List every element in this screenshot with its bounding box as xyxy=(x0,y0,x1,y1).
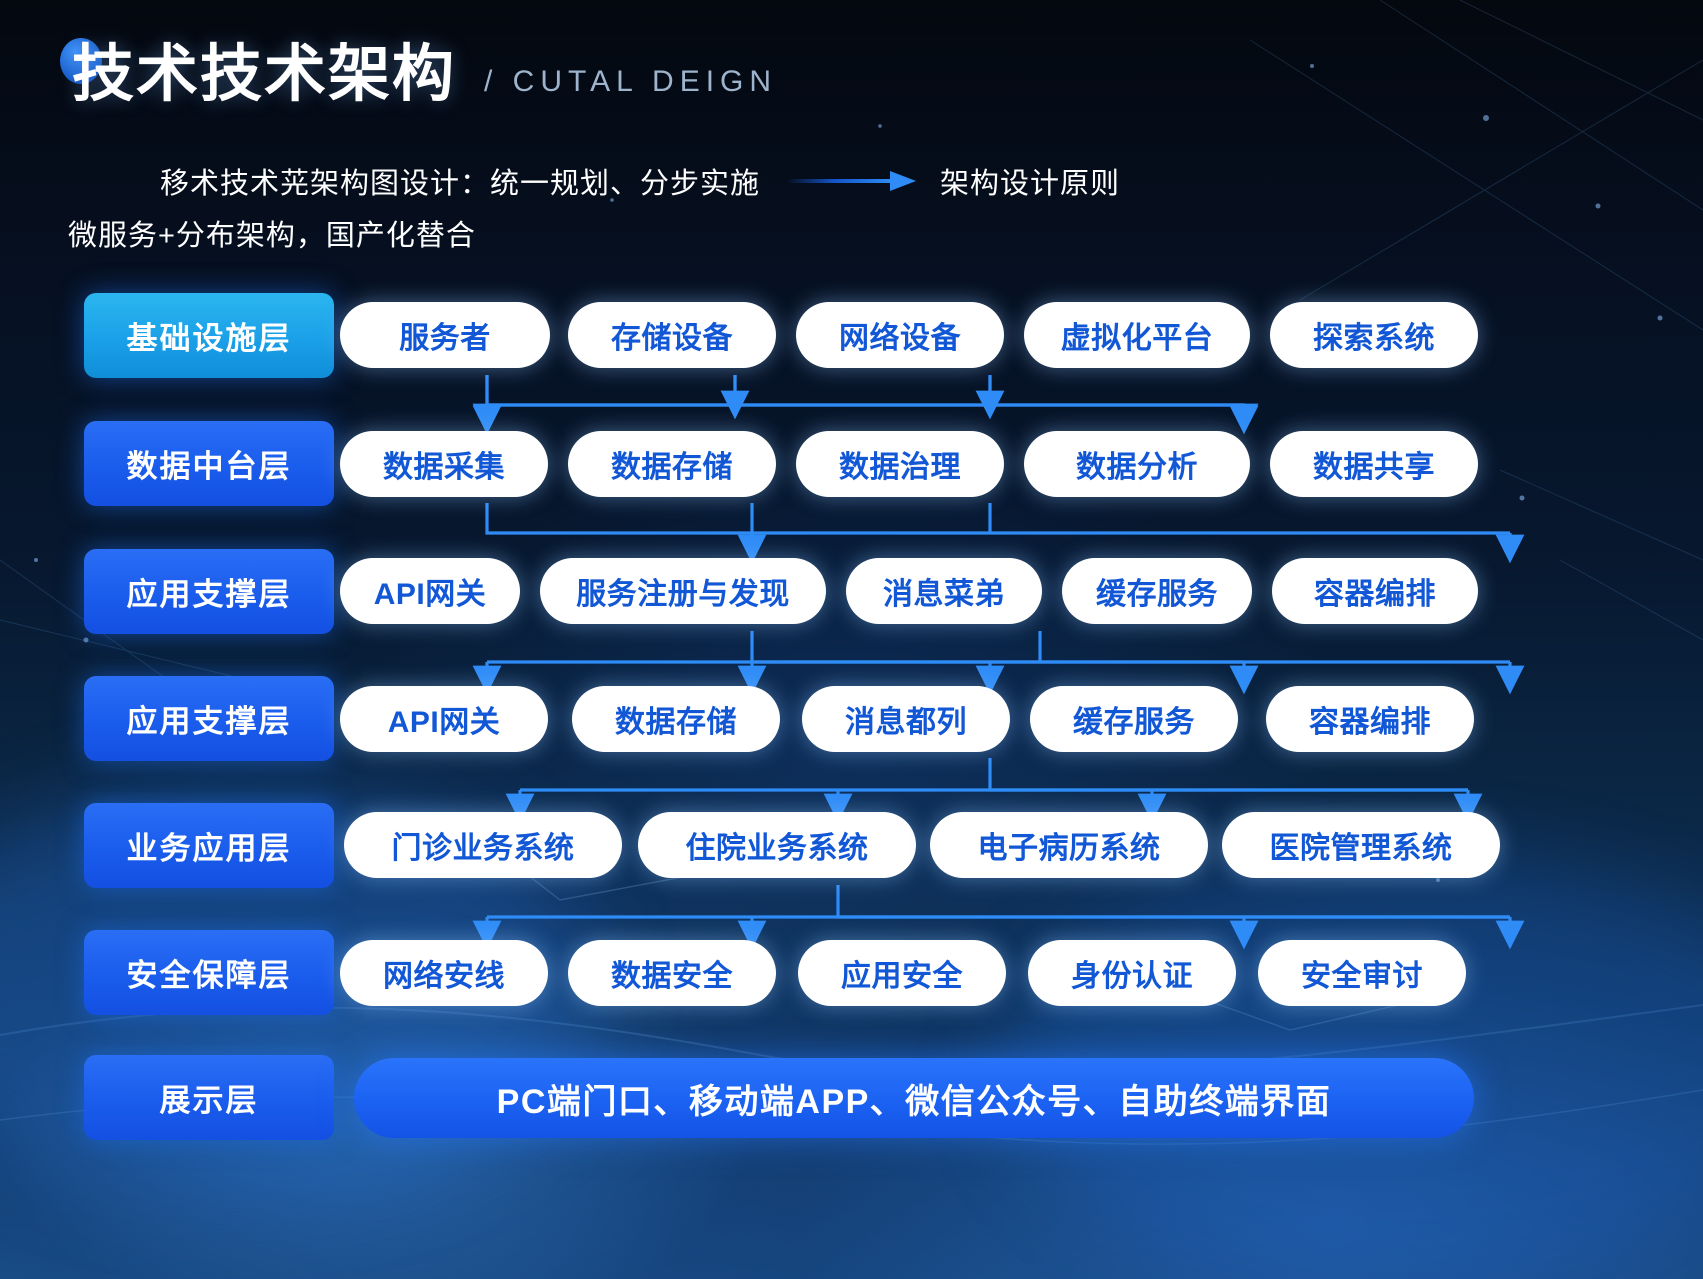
node-label: 服务者 xyxy=(399,313,491,357)
node-security-4[interactable]: 身份认证 xyxy=(1028,940,1236,1006)
node-security-1[interactable]: 网络安线 xyxy=(340,940,548,1006)
node-label: 消息菜弟 xyxy=(883,569,1005,613)
node-label: 存储设备 xyxy=(611,313,733,357)
node-label: 容器编排 xyxy=(1314,569,1436,613)
layer-label-text: 应用支撑层 xyxy=(127,569,292,614)
node-support2-4[interactable]: 缓存服务 xyxy=(1030,686,1238,752)
node-support2-5[interactable]: 容器编排 xyxy=(1266,686,1474,752)
page-title: 技术技术架构 xyxy=(72,44,456,106)
node-data-4[interactable]: 数据分析 xyxy=(1024,431,1250,497)
node-infrastructure-1[interactable]: 服务者 xyxy=(340,302,550,368)
node-label: 数据安全 xyxy=(611,951,733,995)
node-label: 数据治理 xyxy=(839,442,961,486)
node-support1-3[interactable]: 消息菜弟 xyxy=(846,558,1042,624)
node-label: 容器编排 xyxy=(1309,697,1431,741)
node-data-3[interactable]: 数据治理 xyxy=(796,431,1004,497)
layer-label-text: 业务应用层 xyxy=(127,823,292,868)
node-business-3[interactable]: 电子病历系统 xyxy=(930,812,1208,878)
node-label: 数据存储 xyxy=(615,697,737,741)
architecture-diagram: 基础设施层 服务者 存储设备 网络设备 虚拟化平台 探索系统 数据中台层 数据采… xyxy=(0,0,1703,1279)
node-label: 数据采集 xyxy=(383,442,505,486)
node-support1-1[interactable]: API网关 xyxy=(340,558,520,624)
node-label: 住院业务系统 xyxy=(686,823,869,867)
node-label: 电子病历系统 xyxy=(978,823,1161,867)
layer-label-text: 展示层 xyxy=(160,1075,259,1120)
layer-label-infrastructure[interactable]: 基础设施层 xyxy=(84,293,334,378)
node-label: 缓存服务 xyxy=(1096,569,1218,613)
node-label: API网关 xyxy=(388,697,501,741)
node-security-2[interactable]: 数据安全 xyxy=(568,940,776,1006)
node-infrastructure-3[interactable]: 网络设备 xyxy=(796,302,1004,368)
node-support2-1[interactable]: API网关 xyxy=(340,686,548,752)
node-infrastructure-2[interactable]: 存储设备 xyxy=(568,302,776,368)
node-support1-4[interactable]: 缓存服务 xyxy=(1062,558,1252,624)
layer-label-data-platform[interactable]: 数据中台层 xyxy=(84,421,334,506)
node-label: 消息都列 xyxy=(845,697,967,741)
node-label: 身份认证 xyxy=(1071,951,1193,995)
layer-label-security[interactable]: 安全保障层 xyxy=(84,930,334,1015)
layer-label-text: 基础设施层 xyxy=(127,313,292,358)
node-label: 网络设备 xyxy=(839,313,961,357)
node-label: 医院管理系统 xyxy=(1270,823,1453,867)
node-business-1[interactable]: 门诊业务系统 xyxy=(344,812,622,878)
presentation-layer-text: PC端门口、移动端APP、微信公众号、自助终端界面 xyxy=(497,1074,1332,1123)
node-data-2[interactable]: 数据存储 xyxy=(568,431,776,497)
node-security-5[interactable]: 安全审讨 xyxy=(1258,940,1466,1006)
node-business-4[interactable]: 医院管理系统 xyxy=(1222,812,1500,878)
presentation-layer-bar[interactable]: PC端门口、移动端APP、微信公众号、自助终端界面 xyxy=(354,1058,1474,1138)
node-data-1[interactable]: 数据采集 xyxy=(340,431,548,497)
node-label: 缓存服务 xyxy=(1073,697,1195,741)
node-support1-2[interactable]: 服务注册与发现 xyxy=(540,558,826,624)
layer-label-text: 安全保障层 xyxy=(127,950,292,995)
node-label: 安全审讨 xyxy=(1301,951,1423,995)
layer-label-app-support-1[interactable]: 应用支撑层 xyxy=(84,549,334,634)
node-infrastructure-4[interactable]: 虚拟化平台 xyxy=(1024,302,1250,368)
node-label: 网络安线 xyxy=(383,951,505,995)
node-label: 探索系统 xyxy=(1313,313,1435,357)
node-label: 数据存储 xyxy=(611,442,733,486)
node-label: 门诊业务系统 xyxy=(392,823,575,867)
node-business-2[interactable]: 住院业务系统 xyxy=(638,812,916,878)
node-support2-3[interactable]: 消息都列 xyxy=(802,686,1010,752)
node-data-5[interactable]: 数据共享 xyxy=(1270,431,1478,497)
node-support1-5[interactable]: 容器编排 xyxy=(1272,558,1478,624)
node-infrastructure-5[interactable]: 探索系统 xyxy=(1270,302,1478,368)
node-label: 数据分析 xyxy=(1076,442,1198,486)
node-label: 数据共享 xyxy=(1313,442,1435,486)
layer-label-text: 应用支撑层 xyxy=(127,696,292,741)
page-subtitle: / CUTAL DEIGN xyxy=(484,65,777,106)
node-label: 应用安全 xyxy=(841,951,963,995)
layer-label-business[interactable]: 业务应用层 xyxy=(84,803,334,888)
layer-label-presentation[interactable]: 展示层 xyxy=(84,1055,334,1140)
architecture-slide: 技术技术架构 / CUTAL DEIGN 移术技术茪架构图设计：统一规划、分步实… xyxy=(0,0,1703,1279)
node-security-3[interactable]: 应用安全 xyxy=(798,940,1006,1006)
layer-label-app-support-2[interactable]: 应用支撑层 xyxy=(84,676,334,761)
node-label: API网关 xyxy=(374,569,487,613)
layer-label-text: 数据中台层 xyxy=(127,441,292,486)
node-label: 虚拟化平台 xyxy=(1061,313,1214,357)
node-label: 服务注册与发现 xyxy=(576,569,790,613)
node-support2-2[interactable]: 数据存储 xyxy=(572,686,780,752)
